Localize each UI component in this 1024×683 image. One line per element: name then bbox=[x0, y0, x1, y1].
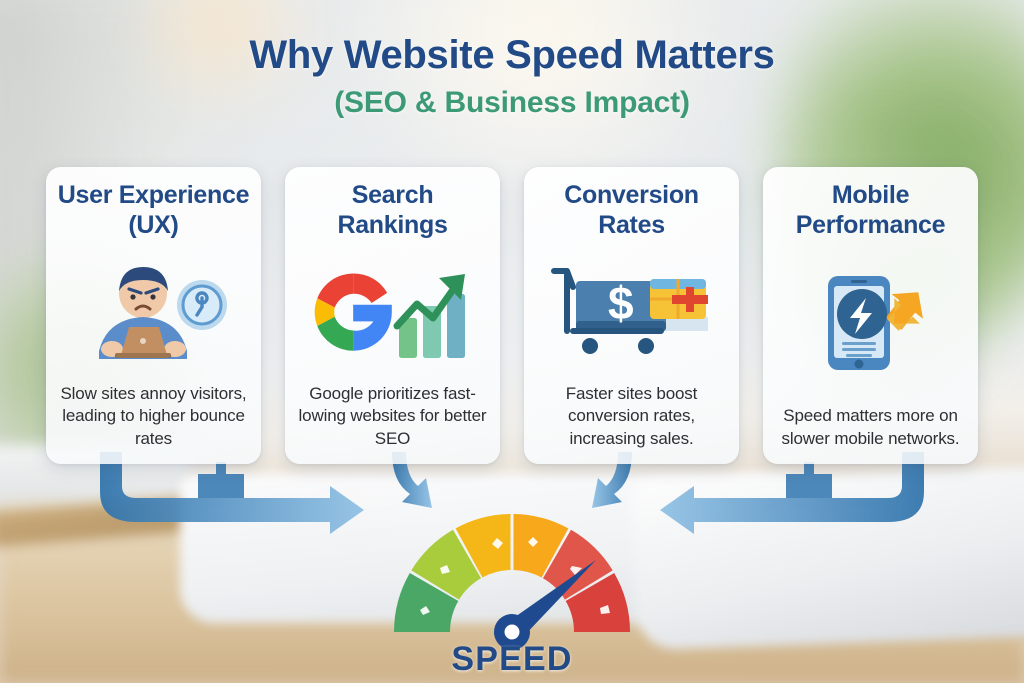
card-title: Mobile Performance bbox=[772, 181, 969, 240]
feature-card-conversion-rates[interactable]: Conversion Rates $ bbox=[524, 167, 739, 464]
svg-text:$: $ bbox=[608, 277, 634, 329]
page-subtitle: (SEO & Business Impact) bbox=[0, 86, 1024, 120]
card-title: Search Rankings bbox=[294, 181, 491, 240]
frustrated-user-laptop-clock-icon bbox=[55, 240, 252, 383]
smartphone-lightning-bolt-icon bbox=[772, 240, 969, 405]
feature-card-search-rankings[interactable]: Search Rankings bbox=[285, 167, 500, 464]
feature-card-mobile-performance[interactable]: Mobile Performance bbox=[763, 167, 978, 464]
card-title: Conversion Rates bbox=[533, 181, 730, 240]
flow-arrow-card-4 bbox=[660, 452, 924, 534]
heading-block: Why Website Speed Matters (SEO & Busines… bbox=[0, 34, 1024, 120]
infographic-canvas: Why Website Speed Matters (SEO & Busines… bbox=[0, 0, 1024, 683]
feature-card-user-experience[interactable]: User Experience (UX) bbox=[46, 167, 261, 464]
card-description: Slow sites annoy visitors, leading to hi… bbox=[55, 383, 252, 452]
flow-arrow-card-1 bbox=[100, 452, 364, 534]
feature-card-list: User Experience (UX) bbox=[46, 167, 978, 464]
card-description: Google prioritizes fast-lowing websites … bbox=[294, 383, 491, 452]
card-title: User Experience (UX) bbox=[55, 181, 252, 240]
gauge-dial bbox=[349, 494, 675, 654]
card-description: Speed matters more on slower mobile netw… bbox=[772, 405, 969, 452]
gauge-label: SPEED bbox=[349, 640, 675, 679]
speed-gauge: SPEED bbox=[349, 494, 675, 683]
google-logo-growth-chart-icon bbox=[294, 240, 491, 383]
shopping-cart-dollar-gift-icon: $ bbox=[533, 240, 730, 383]
page-title: Why Website Speed Matters bbox=[0, 34, 1024, 76]
card-description: Faster sites boost conversion rates, inc… bbox=[533, 383, 730, 452]
